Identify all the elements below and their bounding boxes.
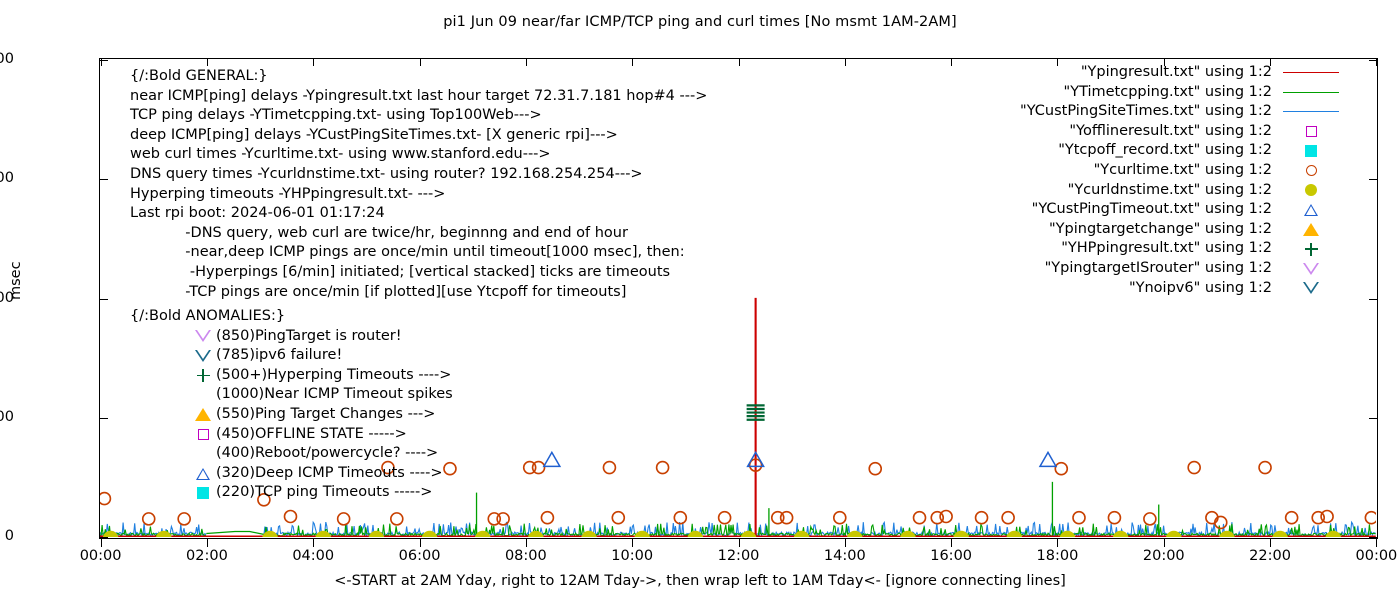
triangle-up-open-icon [1304, 204, 1318, 216]
dns-time-marker [1166, 531, 1182, 537]
dns-time-marker [475, 531, 491, 537]
curl-time-marker [533, 462, 545, 474]
x-tick [1164, 539, 1165, 547]
legend-symbol [1280, 282, 1342, 294]
legend-label: "Ytcpoff_record.txt" using 1:2 [1058, 141, 1272, 161]
general-annotation-line: Last rpi boot: 2024-06-01 01:17:24 [130, 204, 707, 224]
x-tick [207, 539, 208, 547]
legend-item[interactable]: "Ycurldnstime.txt" using 1:2 [1020, 181, 1342, 201]
triangle-up-filled-icon [1303, 223, 1319, 236]
general-annotation-line: TCP ping delays -YTimetcpping.txt- using… [130, 106, 707, 126]
x-axis-title: <-START at 2AM Yday, right to 12AM Tday-… [0, 573, 1400, 589]
anomaly-label: (500+)Hyperping Timeouts ----> [216, 366, 451, 386]
general-annotation-line: DNS query times -Ycurldnstime.txt- using… [130, 165, 707, 185]
y-tick-label: 2000 [0, 51, 14, 67]
curl-time-marker [1073, 512, 1085, 524]
legend-item[interactable]: "Ypingresult.txt" using 1:2 [1020, 63, 1342, 83]
dns-time-marker [581, 531, 597, 537]
dns-time-marker [1113, 531, 1129, 537]
general-annotation-line: {/:Bold GENERAL:} [130, 67, 707, 87]
dns-time-marker [422, 531, 438, 537]
curl-time-marker [940, 510, 952, 522]
curl-time-marker [1144, 513, 1156, 525]
legend-label: "YTimetcpping.txt" using 1:2 [1064, 83, 1272, 103]
y-tick-label: 1500 [0, 170, 14, 186]
page-title: pi1 Jun 09 near/far ICMP/TCP ping and cu… [0, 14, 1400, 30]
x-tick-label: 18:00 [1037, 548, 1079, 564]
curl-time-marker [834, 512, 846, 524]
legend-item[interactable]: "YCustPingSiteTimes.txt" using 1:2 [1020, 102, 1342, 122]
legend-label: "Ypingtargetchange" using 1:2 [1049, 220, 1272, 240]
curl-time-marker [657, 462, 669, 474]
anomaly-item: (1000)Near ICMP Timeout spikes [190, 385, 453, 405]
legend-item[interactable]: "YTimetcpping.txt" using 1:2 [1020, 83, 1342, 103]
curl-time-marker [100, 493, 110, 505]
legend-item[interactable]: "Yofflineresult.txt" using 1:2 [1020, 122, 1342, 142]
x-tick-label: 16:00 [930, 548, 972, 564]
curl-time-marker [603, 462, 615, 474]
anomaly-item: (320)Deep ICMP Timeouts ----> [190, 464, 453, 484]
curl-time-marker [284, 510, 296, 522]
legend-label: "Ypingresult.txt" using 1:2 [1081, 63, 1272, 83]
dns-time-marker [368, 531, 384, 537]
anomaly-item: (220)TCP ping Timeouts -----> [190, 483, 453, 503]
anomaly-label: (785)ipv6 failure! [216, 346, 342, 366]
x-tick-label: 14:00 [824, 548, 866, 564]
curl-time-marker [541, 512, 553, 524]
dns-time-marker [794, 531, 810, 537]
general-annotation-block: {/:Bold GENERAL:}near ICMP[ping] delays … [130, 67, 707, 302]
square-open-icon [198, 429, 209, 440]
curl-time-marker [497, 513, 509, 525]
dns-time-marker [953, 531, 969, 537]
x-tick-label: 04:00 [292, 548, 334, 564]
plus-icon [197, 369, 210, 382]
general-annotation-line: web curl times -Ycurltime.txt- using www… [130, 145, 707, 165]
curl-time-marker [1002, 512, 1014, 524]
deep-icmp-timeout-marker [544, 452, 560, 466]
curl-time-marker [869, 463, 881, 475]
triangle-down-open-icon [1303, 263, 1319, 275]
anomaly-item: (500+)Hyperping Timeouts ----> [190, 366, 453, 386]
dns-time-marker [1325, 531, 1341, 537]
x-tick [420, 539, 421, 547]
anomaly-label: (850)PingTarget is router! [216, 327, 402, 347]
triangle-up-open-icon [196, 468, 210, 480]
curl-time-marker [719, 512, 731, 524]
curl-time-marker [976, 512, 988, 524]
legend-item[interactable]: "YCustPingTimeout.txt" using 1:2 [1020, 200, 1342, 220]
anomaly-item: (785)ipv6 failure! [190, 346, 453, 366]
anomaly-label: (550)Ping Target Changes ---> [216, 405, 435, 425]
plus-icon [1305, 243, 1318, 256]
legend-symbol [1280, 111, 1342, 112]
dns-time-marker [156, 531, 172, 537]
x-tick-label: 06:00 [399, 548, 441, 564]
dns-time-marker [900, 531, 916, 537]
legend-line-icon [1283, 72, 1339, 73]
x-tick-label: 08:00 [505, 548, 547, 564]
square-filled-icon [1305, 145, 1317, 157]
x-tick-label: 02:00 [186, 548, 228, 564]
x-tick-label: 00:00 [1355, 548, 1397, 564]
square-filled-icon [197, 487, 209, 499]
circle-filled-icon [1305, 184, 1317, 196]
dns-time-marker [1059, 531, 1075, 537]
x-tick [526, 539, 527, 547]
dns-time-marker [1006, 531, 1022, 537]
general-annotation-line: deep ICMP[ping] delays -YCustPingSiteTim… [130, 126, 707, 146]
curl-time-marker [1321, 510, 1333, 522]
dns-time-marker [687, 531, 703, 537]
anomaly-label: (450)OFFLINE STATE -----> [216, 425, 407, 445]
curl-time-marker [178, 513, 190, 525]
x-tick-label: 12:00 [718, 548, 760, 564]
x-tick [313, 539, 314, 547]
x-tick [1270, 539, 1271, 547]
anomaly-item: (850)PingTarget is router! [190, 327, 453, 347]
legend-symbol [1280, 223, 1342, 236]
x-tick [739, 539, 740, 547]
anomaly-label: (1000)Near ICMP Timeout spikes [216, 385, 453, 405]
curl-time-marker [143, 513, 155, 525]
legend-label: "YpingtargetISrouter" using 1:2 [1045, 259, 1272, 279]
y-tick-label: 0 [0, 528, 14, 544]
general-annotation-line: Hyperping timeouts -YHPpingresult.txt- -… [130, 185, 707, 205]
legend-label: "Ycurldnstime.txt" using 1:2 [1068, 181, 1272, 201]
legend-symbol [1280, 165, 1342, 176]
y-tick-label: 500 [0, 409, 14, 425]
anomaly-label: (400)Reboot/powercycle? ----> [216, 444, 438, 464]
curl-time-marker [1188, 462, 1200, 474]
legend-label: "YCustPingTimeout.txt" using 1:2 [1032, 200, 1272, 220]
x-tick-label: 22:00 [1249, 548, 1291, 564]
curl-time-marker [612, 512, 624, 524]
plot-area: {/:Bold GENERAL:}near ICMP[ping] delays … [99, 58, 1378, 539]
anomaly-symbol [190, 468, 216, 480]
legend-item[interactable]: "Ypingtargetchange" using 1:2 [1020, 220, 1342, 240]
x-tick [951, 539, 952, 547]
legend-line-icon [1283, 111, 1339, 112]
general-annotation-line: -near,deep ICMP pings are once/min until… [130, 243, 707, 263]
curl-time-marker [1055, 463, 1067, 475]
legend-item[interactable]: "YHPpingresult.txt" using 1:2 [1020, 239, 1342, 259]
anomalies-annotation-block: {/:Bold ANOMALIES:}(850)PingTarget is ro… [130, 307, 453, 503]
legend-item[interactable]: "Ynoipv6" using 1:2 [1020, 279, 1342, 299]
curl-time-marker [1108, 512, 1120, 524]
legend-symbol [1280, 72, 1342, 73]
general-annotation-line: -DNS query, web curl are twice/hr, begin… [130, 224, 707, 244]
x-tick-label: 10:00 [611, 548, 653, 564]
anomaly-label: (220)TCP ping Timeouts -----> [216, 483, 432, 503]
triangle-up-filled-icon [195, 408, 211, 421]
anomaly-symbol [190, 369, 216, 382]
legend-label: "Yofflineresult.txt" using 1:2 [1069, 122, 1272, 142]
anomaly-item: (400)Reboot/powercycle? ----> [190, 444, 453, 464]
curl-time-marker [1259, 462, 1271, 474]
dns-time-marker [262, 531, 278, 537]
legend-item[interactable]: "YpingtargetISrouter" using 1:2 [1020, 259, 1342, 279]
anomaly-symbol [190, 429, 216, 440]
legend-label: "YHPpingresult.txt" using 1:2 [1061, 239, 1272, 259]
dns-time-marker [103, 531, 119, 537]
dns-time-marker [741, 531, 757, 537]
triangle-down-open-teal-icon [1303, 282, 1319, 294]
dns-time-marker [315, 531, 331, 537]
circle-open-icon [1306, 165, 1317, 176]
anomaly-item: (550)Ping Target Changes ---> [190, 405, 453, 425]
curl-time-marker [1286, 512, 1298, 524]
curl-time-marker [914, 512, 926, 524]
curl-time-marker [781, 512, 793, 524]
x-tick [845, 539, 846, 547]
legend-label: "Ycurltime.txt" using 1:2 [1094, 161, 1272, 181]
dns-time-marker [634, 531, 650, 537]
x-tick [632, 539, 633, 547]
triangle-down-open-icon [195, 330, 211, 342]
x-tick-label: 20:00 [1143, 548, 1185, 564]
legend-symbol [1280, 145, 1342, 157]
dns-time-marker [1272, 531, 1288, 537]
legend-line-icon [1283, 92, 1339, 93]
dns-time-marker [528, 531, 544, 537]
legend-symbol [1280, 184, 1342, 196]
anomaly-symbol [190, 330, 216, 342]
curl-time-marker [391, 513, 403, 525]
dns-time-marker [1219, 531, 1235, 537]
anomaly-symbol [190, 487, 216, 499]
triangle-down-open-teal-icon [195, 350, 211, 362]
deep-icmp-timeout-marker [1040, 452, 1056, 466]
square-open-icon [1306, 126, 1317, 137]
legend-symbol [1280, 126, 1342, 137]
general-annotation-line: near ICMP[ping] delays -Ypingresult.txt … [130, 87, 707, 107]
general-annotation-line: -Hyperpings [6/min] initiated; [vertical… [130, 263, 707, 283]
anomalies-heading: {/:Bold ANOMALIES:} [130, 307, 453, 327]
y-tick-label: 1000 [0, 290, 14, 306]
anomaly-label: (320)Deep ICMP Timeouts ----> [216, 464, 443, 484]
legend-symbol [1280, 204, 1342, 216]
general-annotation-line: -TCP pings are once/min [if plotted][use… [130, 283, 707, 303]
legend-symbol [1280, 263, 1342, 275]
legend-label: "Ynoipv6" using 1:2 [1129, 279, 1272, 299]
curl-time-marker [338, 513, 350, 525]
anomaly-item: (450)OFFLINE STATE -----> [190, 425, 453, 445]
dns-time-marker [847, 531, 863, 537]
x-tick-label: 00:00 [80, 548, 122, 564]
x-tick [1376, 539, 1377, 547]
legend: "Ypingresult.txt" using 1:2"YTimetcpping… [1020, 63, 1342, 298]
anomaly-symbol [190, 408, 216, 421]
legend-item[interactable]: "Ycurltime.txt" using 1:2 [1020, 161, 1342, 181]
chart-page: pi1 Jun 09 near/far ICMP/TCP ping and cu… [0, 0, 1400, 600]
curl-time-marker [1365, 512, 1376, 524]
legend-symbol [1280, 92, 1342, 93]
legend-item[interactable]: "Ytcpoff_record.txt" using 1:2 [1020, 141, 1342, 161]
legend-label: "YCustPingSiteTimes.txt" using 1:2 [1020, 102, 1272, 122]
x-tick [1057, 539, 1058, 547]
curl-time-marker [674, 512, 686, 524]
legend-symbol [1280, 243, 1342, 256]
anomaly-symbol [190, 350, 216, 362]
x-tick [101, 539, 102, 547]
